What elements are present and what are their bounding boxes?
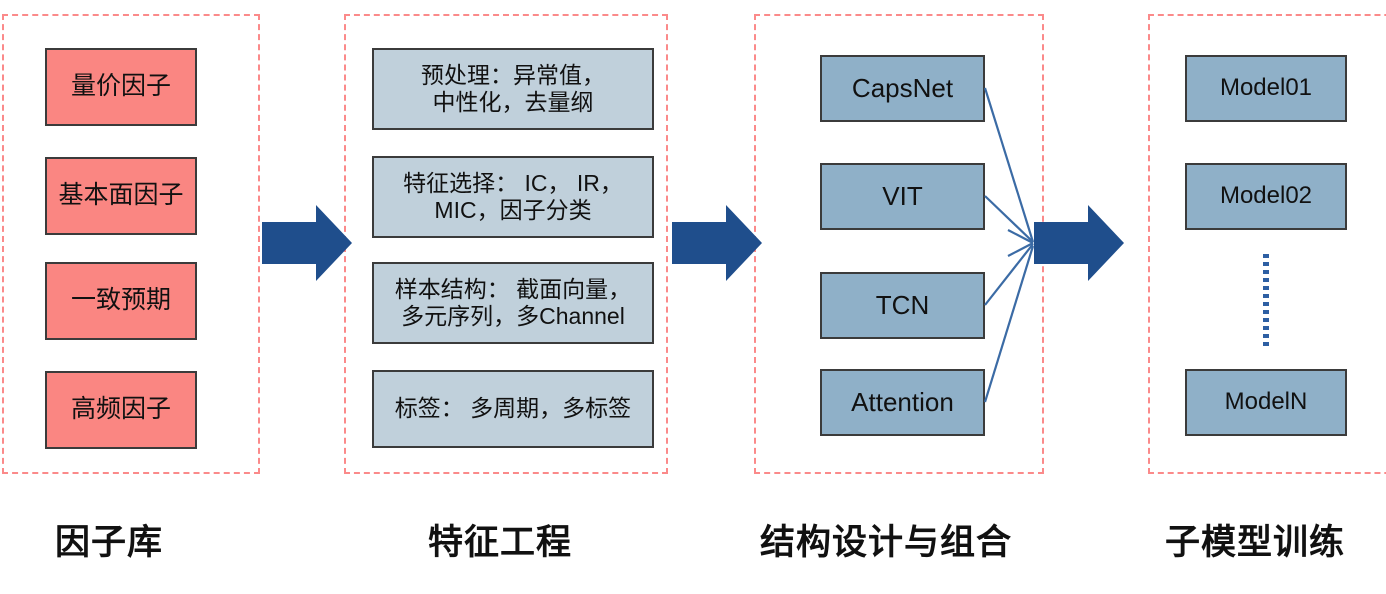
node-vit[interactable]: VIT — [820, 163, 985, 230]
node-modeln[interactable]: ModelN — [1185, 369, 1347, 436]
node-label: Attention — [851, 387, 954, 418]
arrow-architecture-to-training — [1034, 205, 1124, 281]
stage-caption-architecture-design: 结构设计与组合 — [760, 525, 1012, 560]
node-label: 基本面因子 — [58, 181, 183, 211]
node-consensus-expectation[interactable]: 一致预期 — [45, 262, 197, 340]
node-model01[interactable]: Model01 — [1185, 55, 1347, 122]
node-label: 量价因子 — [71, 72, 171, 102]
node-label: TCN — [876, 290, 929, 321]
node-volume-price-factor[interactable]: 量价因子 — [45, 48, 197, 126]
node-label: 特征选择： IC， IR， MIC，因子分类 — [403, 170, 623, 224]
stage-caption-feature-engineering: 特征工程 — [428, 525, 572, 560]
node-model02[interactable]: Model02 — [1185, 163, 1347, 230]
stage-caption-submodel-training: 子模型训练 — [1165, 525, 1345, 560]
stage-caption-factor-library: 因子库 — [55, 525, 163, 560]
node-label: 一致预期 — [71, 286, 171, 316]
node-label-design[interactable]: 标签： 多周期，多标签 — [372, 370, 654, 448]
node-label: VIT — [882, 181, 922, 212]
node-feature-selection[interactable]: 特征选择： IC， IR， MIC，因子分类 — [372, 156, 654, 238]
node-sample-structure[interactable]: 样本结构： 截面向量， 多元序列，多Channel — [372, 262, 654, 344]
node-fundamental-factor[interactable]: 基本面因子 — [45, 157, 197, 235]
node-attention[interactable]: Attention — [820, 369, 985, 436]
diagram-canvas: 量价因子 基本面因子 一致预期 高频因子 预处理：异常值， 中性化，去量纲 特征… — [0, 0, 1386, 594]
node-label: ModelN — [1225, 388, 1308, 416]
node-tcn[interactable]: TCN — [820, 272, 985, 339]
node-label: 高频因子 — [71, 395, 171, 425]
arrow-factor-to-feature — [262, 205, 352, 281]
node-label: Model02 — [1220, 182, 1312, 210]
node-high-frequency-factor[interactable]: 高频因子 — [45, 371, 197, 449]
node-label: CapsNet — [852, 73, 953, 104]
node-label: 标签： 多周期，多标签 — [395, 395, 631, 422]
arrow-feature-to-architecture — [672, 205, 762, 281]
node-label: Model01 — [1220, 74, 1312, 102]
node-label: 样本结构： 截面向量， 多元序列，多Channel — [395, 276, 631, 330]
node-label: 预处理：异常值， 中性化，去量纲 — [421, 62, 605, 116]
node-capsnet[interactable]: CapsNet — [820, 55, 985, 122]
node-preprocessing[interactable]: 预处理：异常值， 中性化，去量纲 — [372, 48, 654, 130]
